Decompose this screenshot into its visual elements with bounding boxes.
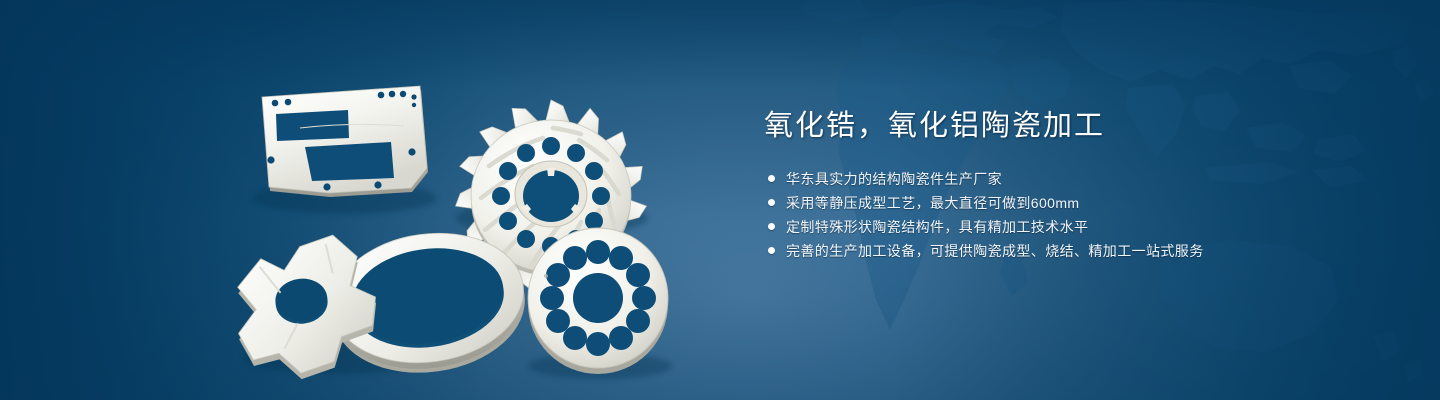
ceramic-hole-disc bbox=[528, 228, 668, 374]
list-item-label: 完善的生产加工设备，可提供陶瓷成型、烧结、精加工一站式服务 bbox=[786, 241, 1204, 261]
list-item: 完善的生产加工设备，可提供陶瓷成型、烧结、精加工一站式服务 bbox=[764, 240, 1384, 261]
bullet-dot-icon bbox=[768, 247, 775, 254]
list-item-label: 采用等静压成型工艺，最大直径可做到600mm bbox=[786, 193, 1079, 213]
bullet-dot-icon bbox=[768, 223, 775, 230]
ceramic-products-image bbox=[0, 0, 720, 400]
ceramic-machined-plate bbox=[262, 86, 428, 197]
list-item-label: 华东具实力的结构陶瓷件生产厂家 bbox=[786, 169, 1002, 189]
page-title: 氧化锆，氧化铝陶瓷加工 bbox=[764, 108, 1384, 144]
bullet-dot-icon bbox=[768, 199, 775, 206]
list-item-label: 定制特殊形状陶瓷结构件，具有精加工技术水平 bbox=[786, 217, 1088, 237]
list-item: 定制特殊形状陶瓷结构件，具有精加工技术水平 bbox=[764, 216, 1384, 237]
list-item: 华东具实力的结构陶瓷件生产厂家 bbox=[764, 168, 1384, 189]
banner-copy: 氧化锆，氧化铝陶瓷加工 华东具实力的结构陶瓷件生产厂家 采用等静压成型工艺，最大… bbox=[764, 108, 1384, 264]
ceramic-products-hero-banner: 氧化锆，氧化铝陶瓷加工 华东具实力的结构陶瓷件生产厂家 采用等静压成型工艺，最大… bbox=[0, 0, 1440, 400]
bullet-dot-icon bbox=[768, 175, 775, 182]
feature-list: 华东具实力的结构陶瓷件生产厂家 采用等静压成型工艺，最大直径可做到600mm 定… bbox=[764, 168, 1384, 261]
list-item: 采用等静压成型工艺，最大直径可做到600mm bbox=[764, 192, 1384, 213]
